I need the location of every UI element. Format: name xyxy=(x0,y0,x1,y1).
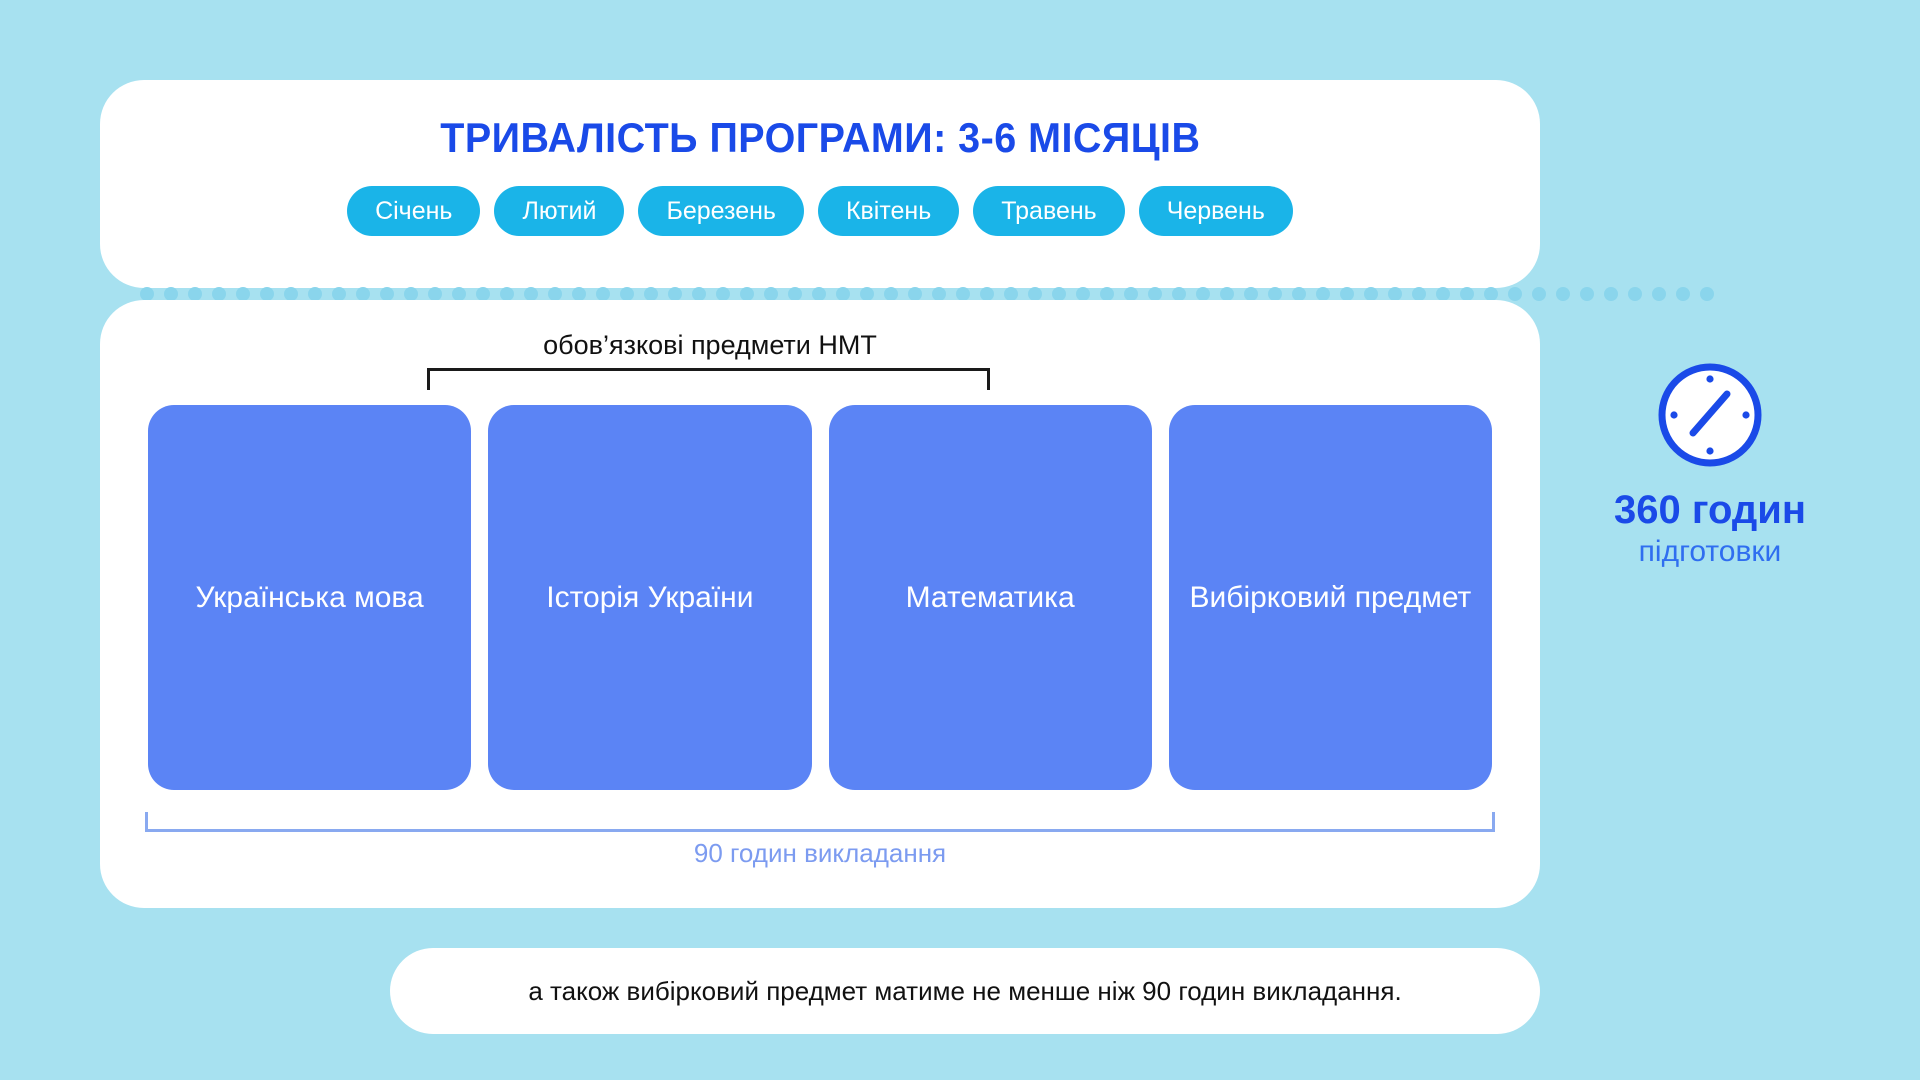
divider-dot xyxy=(1700,287,1714,301)
page-title: ТРИВАЛІСТЬ ПРОГРАМИ: 3-6 МІСЯЦІВ xyxy=(440,114,1200,162)
divider-dot xyxy=(716,287,730,301)
month-pill-january[interactable]: Січень xyxy=(347,186,480,236)
divider-dot xyxy=(884,287,898,301)
divider-dot xyxy=(1580,287,1594,301)
divider-dot xyxy=(1124,287,1138,301)
program-duration-panel: ТРИВАЛІСТЬ ПРОГРАМИ: 3-6 МІСЯЦІВ Січень … xyxy=(100,80,1540,288)
divider-dot xyxy=(1076,287,1090,301)
divider-dot xyxy=(1244,287,1258,301)
divider-dot xyxy=(380,287,394,301)
divider-dot xyxy=(332,287,346,301)
divider-dot xyxy=(1220,287,1234,301)
subject-card-mathematics[interactable]: Математика xyxy=(829,405,1152,790)
divider-dot xyxy=(764,287,778,301)
divider-dot xyxy=(908,287,922,301)
divider-dot xyxy=(932,287,946,301)
divider-dot xyxy=(1340,287,1354,301)
divider-dot xyxy=(836,287,850,301)
subjects-panel: обов’язкові предмети НМТ Українська мова… xyxy=(100,300,1540,908)
divider-dot xyxy=(620,287,634,301)
divider-dot xyxy=(1604,287,1618,301)
divider-dot xyxy=(548,287,562,301)
preparation-hours-caption: підготовки xyxy=(1590,535,1830,569)
divider-dot xyxy=(1052,287,1066,301)
teaching-hours-label: 90 годин викладання xyxy=(145,838,1495,869)
divider-dot xyxy=(1532,287,1546,301)
mandatory-subjects-bracket xyxy=(427,368,990,390)
subject-card-ukrainian-language[interactable]: Українська мова xyxy=(148,405,471,790)
divider-dot xyxy=(164,287,178,301)
month-pill-may[interactable]: Травень xyxy=(973,186,1124,236)
divider-dot xyxy=(1460,287,1474,301)
divider-dot xyxy=(1436,287,1450,301)
clock-icon xyxy=(1655,360,1765,470)
divider-dot xyxy=(1100,287,1114,301)
teaching-hours-bracket xyxy=(145,812,1495,832)
divider-dot xyxy=(1316,287,1330,301)
divider-dot xyxy=(596,287,610,301)
mandatory-subjects-label: обов’язкові предмети НМТ xyxy=(430,330,990,361)
divider-dot xyxy=(356,287,370,301)
divider-dot xyxy=(812,287,826,301)
divider-dot xyxy=(428,287,442,301)
divider-dot xyxy=(668,287,682,301)
divider-dot xyxy=(500,287,514,301)
divider-dot xyxy=(524,287,538,301)
divider-dot xyxy=(980,287,994,301)
divider-dot xyxy=(644,287,658,301)
divider-dot xyxy=(860,287,874,301)
divider-dot xyxy=(1412,287,1426,301)
subject-card-elective[interactable]: Вибірковий предмет xyxy=(1169,405,1492,790)
month-pill-april[interactable]: Квітень xyxy=(818,186,959,236)
subject-card-history-of-ukraine[interactable]: Історія України xyxy=(488,405,811,790)
footer-note: а також вибірковий предмет матиме не мен… xyxy=(390,948,1540,1034)
divider-dot xyxy=(236,287,250,301)
divider-dot xyxy=(1028,287,1042,301)
months-row: Січень Лютий Березень Квітень Травень Че… xyxy=(347,186,1293,236)
month-pill-june[interactable]: Червень xyxy=(1139,186,1293,236)
month-pill-february[interactable]: Лютий xyxy=(494,186,624,236)
divider-dot xyxy=(452,287,466,301)
divider-dot xyxy=(692,287,706,301)
divider-dot xyxy=(476,287,490,301)
divider-dot xyxy=(188,287,202,301)
divider-dot xyxy=(404,287,418,301)
divider-dot xyxy=(1484,287,1498,301)
divider-dot xyxy=(1676,287,1690,301)
divider-dot xyxy=(788,287,802,301)
divider-dot xyxy=(572,287,586,301)
divider-dot xyxy=(1556,287,1570,301)
subject-cards-row: Українська мова Історія України Математи… xyxy=(148,405,1492,790)
divider-dot xyxy=(1148,287,1162,301)
divider-dot xyxy=(308,287,322,301)
preparation-hours-value: 360 годин xyxy=(1590,488,1830,533)
divider-dot xyxy=(1388,287,1402,301)
divider-dot xyxy=(140,287,154,301)
divider-dot xyxy=(1172,287,1186,301)
divider-dot xyxy=(740,287,754,301)
divider-dot xyxy=(1004,287,1018,301)
divider-dot xyxy=(260,287,274,301)
month-pill-march[interactable]: Березень xyxy=(638,186,804,236)
divider-dot xyxy=(1196,287,1210,301)
divider-dot xyxy=(212,287,226,301)
divider-dot xyxy=(1652,287,1666,301)
divider-dot xyxy=(1508,287,1522,301)
divider-dot xyxy=(1292,287,1306,301)
divider-dot xyxy=(1364,287,1378,301)
preparation-hours-block: 360 годин підготовки xyxy=(1590,360,1830,569)
divider-dot xyxy=(1268,287,1282,301)
divider-dot xyxy=(284,287,298,301)
divider-dot xyxy=(956,287,970,301)
divider-dot xyxy=(1628,287,1642,301)
